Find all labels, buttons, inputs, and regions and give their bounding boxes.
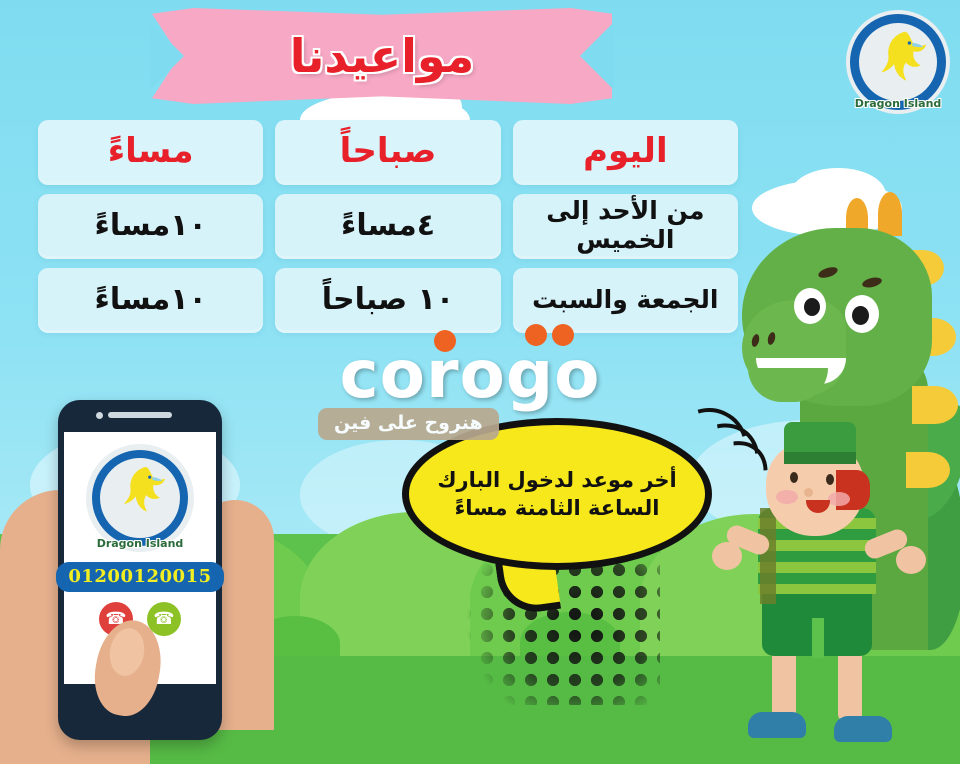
boy-cap-band [784,452,856,464]
dragon-eye-right-pupil [852,306,869,325]
boy-eye-right [826,474,834,485]
notice-line-1: أخر موعد لدخول البارك [437,466,676,494]
header-cell-morning: صباحاً [275,120,500,182]
cloud-over-dragon-2 [790,168,886,222]
brand-logo-phone: Dragon Island [86,444,194,552]
phone-number: 01200120015 [56,562,223,592]
boy-shorts-split [812,618,824,658]
page-title: مواعيدنا [152,8,612,104]
boy-hand-right [896,546,926,574]
cell-morning-sun-thu: ٤مساءً [275,194,500,256]
schedule-table: اليوم صباحاً مساءً من الأحد إلى الخميس ٤… [38,120,738,330]
boy-shoe-left [748,712,806,738]
boy-cheek-left [776,490,798,504]
phone-camera-icon [96,412,103,419]
boy-eye-left [790,472,798,483]
logo-brand-text: Dragon Island [846,97,950,110]
banner: مواعيدنا [152,8,612,110]
header-cell-day: اليوم [513,120,738,182]
boy-shoe-right [834,716,892,742]
boy-hand-left [712,542,742,570]
phone-logo-brand-text: Dragon Island [86,537,194,550]
phone-speaker [108,412,172,418]
boy-strap [760,508,776,604]
table-header-row: اليوم صباحاً مساءً [38,120,738,182]
dragon-spike-2 [878,192,902,236]
boy-nose [804,488,813,497]
cell-day-fri-sat: الجمعة والسبت [513,268,738,330]
dragon-icon [110,458,174,522]
infographic-poster: مواعيدنا Dragon Island اليوم صباحاً مساء… [0,0,960,764]
dragon-eye-left-pupil [804,298,820,316]
cell-morning-fri-sat: ١٠ صباحاً [275,268,500,330]
notice-speech-bubble: أخر موعد لدخول البارك الساعة الثامنة مسا… [402,418,722,608]
cell-day-sun-thu: من الأحد إلى الخميس [513,194,738,256]
brand-logo-header: Dragon Island [846,10,950,114]
dragon-spike-6 [906,452,950,488]
cell-evening-fri-sat: ١٠مساءً [38,268,263,330]
cell-evening-sun-thu: ١٠مساءً [38,194,263,256]
table-row: من الأحد إلى الخميس ٤مساءً ١٠مساءً [38,194,738,256]
header-cell-evening: مساءً [38,120,263,182]
table-row: الجمعة والسبت ١٠ صباحاً ١٠مساءً [38,268,738,330]
dragon-icon [866,22,936,92]
notice-line-2: الساعة الثامنة مساءً [455,494,660,522]
boy-cheek-right [828,492,850,506]
speech-bubble-body: أخر موعد لدخول البارك الساعة الثامنة مسا… [402,418,712,570]
dragon-spike-5 [912,386,958,424]
